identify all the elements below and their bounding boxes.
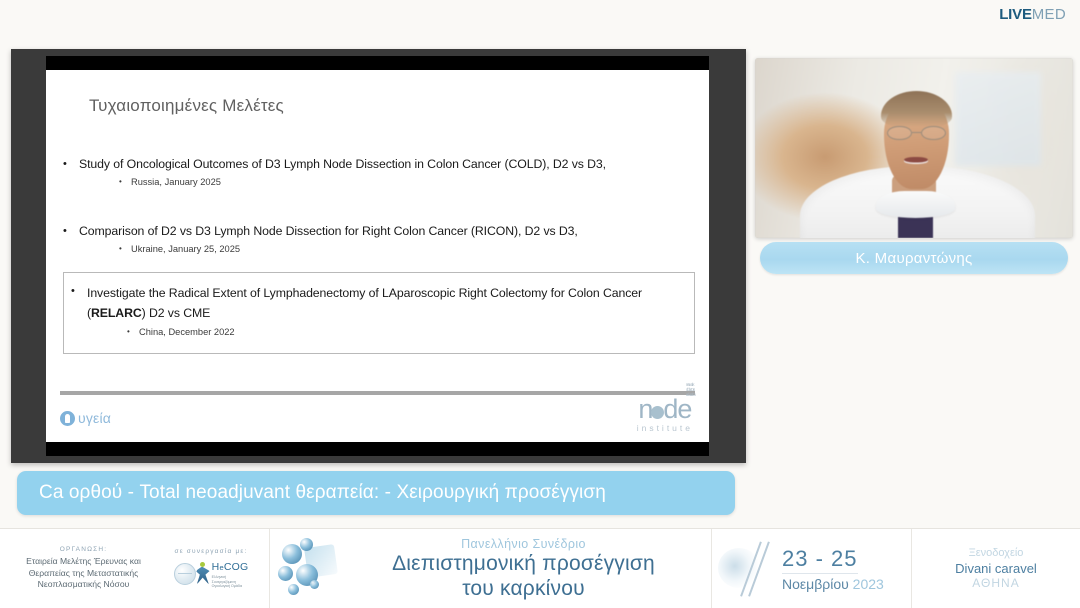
node-logo-institute: institute (637, 424, 693, 433)
hecog-subtitle: Ελληνική Συνεργαζόμενη Ογκολογική Ομάδα (212, 575, 249, 589)
bullet-text: Study of Oncological Outcomes of D3 Lymp… (79, 156, 695, 172)
bullet-item-2: • Comparison of D2 vs D3 Lymph Node Diss… (63, 223, 695, 256)
slide-bullet-list: • Study of Oncological Outcomes of D3 Ly… (63, 156, 695, 354)
organizer-info: ΟΡΓΑΝΩΣΗ: Εταιρεία Μελέτης Έρευνας και Θ… (8, 546, 159, 591)
bullet-text-after: ) D2 vs CME (142, 306, 211, 320)
ygeia-logo: υγεία (60, 410, 111, 426)
livemed-logo: LIVEMED (999, 6, 1066, 23)
slide-title: Τυχαιοποιημένες Μελέτες (89, 96, 284, 116)
sub-bullet-text: China, December 2022 (139, 325, 235, 339)
hecog-logo: HeCOG Ελληνική Συνεργαζόμενη Ογκολογική … (159, 558, 263, 589)
conference-date-text: 23 - 25 Νοεμβρίου 2023 (782, 546, 884, 592)
live-stream-page: LIVEMED Τυχαιοποιημένες Μελέτες • Study … (0, 0, 1080, 608)
conference-pretitle: Πανελλήνιο Συνέδριο (346, 537, 701, 551)
bullet-spacer (63, 256, 695, 272)
speaker-video[interactable] (755, 58, 1073, 238)
bullet-spacer (63, 189, 695, 223)
organizer-name: Εταιρεία Μελέτης Έρευνας και Θεραπείας τ… (8, 556, 159, 591)
hecog-logo-text: HeCOG Ελληνική Συνεργαζόμενη Ογκολογική … (212, 558, 249, 589)
slide-viewer[interactable]: Τυχαιοποιημένες Μελέτες • Study of Oncol… (11, 49, 746, 463)
conference-bubbles-icon (276, 534, 346, 604)
slide-footer-divider (60, 391, 695, 395)
node-logo-superscript: network of doctors education (686, 382, 695, 397)
speaker-name-text: Κ. Μαυραντώνης (855, 250, 972, 267)
venue-label: Ξενοδοχείο (969, 546, 1024, 561)
date-decoration-icon (716, 538, 782, 600)
speaker-video-frame (755, 58, 1073, 238)
venue-name: Divani caravel (955, 561, 1037, 576)
conference-title-line2: του καρκίνου (346, 576, 701, 601)
organizer-label: ΟΡΓΑΝΩΣΗ: (8, 546, 159, 553)
ygeia-logo-text: υγεία (78, 410, 111, 426)
bullet-text: Investigate the Radical Extent of Lympha… (87, 283, 686, 323)
sub-bullet-text: Russia, January 2025 (131, 175, 221, 189)
session-title-bar: Ca ορθού - Total neoadjuvant θεραπεία: -… (17, 471, 735, 515)
conference-venue-block: Ξενοδοχείο Divani caravel ΑΘΗΝΑ (912, 529, 1080, 608)
organizer-block: ΟΡΓΑΝΩΣΗ: Εταιρεία Μελέτης Έρευνας και Θ… (0, 529, 270, 608)
session-title-text: Ca ορθού - Total neoadjuvant θεραπεία: -… (39, 482, 606, 504)
sub-bullet-marker-icon: • (119, 175, 131, 189)
node-logo-n: n (638, 394, 652, 424)
conference-title-block: Πανελλήνιο Συνέδριο Διεπιστημονική προσέ… (270, 529, 712, 608)
glasses-icon (887, 126, 946, 140)
speaker-name-banner: Κ. Μαυραντώνης (760, 242, 1068, 274)
face-mask-icon (876, 191, 956, 218)
speaker-hair (881, 91, 953, 127)
venue-city: ΑΘΗΝΑ (972, 576, 1019, 591)
livemed-logo-med: MED (1032, 6, 1066, 23)
speaker-mouth (904, 157, 928, 164)
conference-date-block: 23 - 25 Νοεμβρίου 2023 (712, 529, 912, 608)
slide-letterbox-top (46, 56, 709, 70)
bullet-item-1: • Study of Oncological Outcomes of D3 Ly… (63, 156, 695, 189)
ygeia-mark-icon (60, 411, 75, 426)
collaborator-label: σε συνεργασία με: (159, 548, 263, 555)
sub-bullet-marker-icon: • (127, 325, 139, 339)
slide-letterbox-bottom (46, 442, 709, 456)
livemed-logo-live: LIVE (999, 6, 1032, 23)
node-institute-logo: nde network of doctors education institu… (637, 396, 693, 433)
conference-year: 2023 (853, 576, 884, 592)
sub-bullet-marker-icon: • (119, 242, 131, 256)
collaborator-info: σε συνεργασία με: HeCOG Ελληνική Συνεργα… (159, 548, 263, 589)
hecog-cog: COG (224, 561, 249, 573)
bullet-item-3-highlight-box: • Investigate the Radical Extent of Lymp… (63, 272, 695, 354)
bullet-marker-icon: • (63, 223, 79, 239)
conference-month-year: Νοεμβρίου 2023 (782, 576, 884, 592)
hecog-figure-icon (195, 562, 211, 586)
bullet-text-bold: RELARC (91, 306, 142, 320)
bullet-marker-icon: • (63, 156, 79, 172)
presentation-slide: Τυχαιοποιημένες Μελέτες • Study of Oncol… (46, 70, 709, 442)
conference-days: 23 - 25 (782, 546, 858, 574)
conference-title-text: Πανελλήνιο Συνέδριο Διεπιστημονική προσέ… (346, 537, 711, 601)
conference-title-line1: Διεπιστημονική προσέγγιση (346, 551, 701, 576)
bullet-marker-icon: • (71, 283, 87, 323)
background-window (955, 72, 1041, 166)
sub-bullet-text: Ukraine, January 25, 2025 (131, 242, 240, 256)
conference-month: Νοεμβρίου (782, 576, 853, 592)
conference-footer: ΟΡΓΑΝΩΣΗ: Εταιρεία Μελέτης Έρευνας και Θ… (0, 528, 1080, 608)
hecog-globe-icon (174, 563, 196, 585)
bullet-text: Comparison of D2 vs D3 Lymph Node Dissec… (79, 223, 695, 239)
node-logo-word: nde network of doctors education (637, 396, 693, 423)
node-logo-de: de (663, 394, 691, 424)
